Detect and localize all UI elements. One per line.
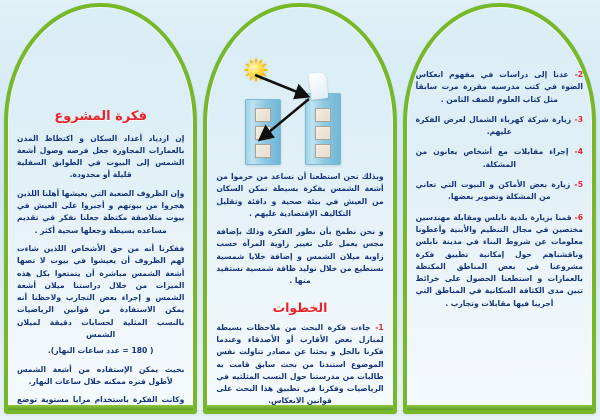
right-paragraph-2: وإن الظروف الصعبة التي يعيشها أهلنا اللذ…	[17, 188, 184, 237]
poster-root: فكرة المشروع إن ازدياد أعداد السكان و اك…	[0, 0, 600, 420]
panel-row: فكرة المشروع إن ازدياد أعداد السكان و اك…	[0, 0, 600, 420]
step-text: إجراء مقابلات مع أشخاص يعانون من المشكلة…	[416, 147, 569, 168]
list-item: 3- زيارة شركة كهرباء الشمال لعرض الفكرة …	[416, 114, 583, 139]
step-text: قمنا بزيارة بلدية نابلس ومقابلة مهندسين …	[416, 213, 583, 308]
steps-list-left: 2- عدنا إلى دراسات في مفهوم انعكاس الضوء…	[416, 69, 583, 318]
list-item: 5- زيارة بعض الأماكن و البيوت التي تعاني…	[416, 179, 583, 204]
panel-content-left: 2- عدنا إلى دراسات في مفهوم انعكاس الضوء…	[407, 7, 592, 410]
steps-list-middle: 1- جاءت فكرة البحث من ملاحظات بسيطة لمنا…	[216, 322, 383, 410]
panel-steps-and-diagram: وبذلك نحن استطعنا أن نساعد من حرموا من أ…	[203, 3, 396, 414]
step-text: جاءت فكرة البحث من ملاحظات بسيطة لمنازل …	[216, 323, 383, 406]
step-text: زيارة شركة كهرباء الشمال لعرض الفكرة علي…	[416, 115, 571, 136]
panel-steps-continued: 2- عدنا إلى دراسات في مفهوم انعكاس الضوء…	[403, 3, 596, 414]
step-text: عدنا إلى دراسات في مفهوم انعكاس الضوء في…	[416, 70, 583, 104]
middle-paragraph-2: و نحن نطمح بأن نطور الفكرة وذلك بإضافة م…	[216, 226, 383, 287]
step-number: 6-	[575, 213, 583, 222]
list-item: 2- عدنا إلى دراسات في مفهوم انعكاس الضوء…	[416, 69, 583, 106]
list-item: 6- قمنا بزيارة بلدية نابلس ومقابلة مهندس…	[416, 212, 583, 310]
panel-frame-right: فكرة المشروع إن ازدياد أعداد السكان و اك…	[4, 3, 197, 414]
right-paragraph-3: ففكرنا أنه من حق الأشخاص اللذين شاءت لهم…	[17, 243, 184, 341]
step-text: زيارة بعض الأماكن و البيوت التي تعاني من…	[416, 180, 571, 201]
light-ray-arrows	[216, 51, 383, 167]
reflected-ray-arrow	[261, 99, 309, 139]
list-item: 1- جاءت فكرة البحث من ملاحظات بسيطة لمنا…	[216, 322, 383, 408]
right-paragraph-5: وكانت الفكرة باستخدام مرايا مستوية توضع …	[17, 394, 184, 410]
panel-content-middle: وبذلك نحن استطعنا أن نساعد من حرموا من أ…	[207, 7, 392, 410]
step-number: 1-	[375, 323, 383, 332]
step-number: 5-	[575, 180, 583, 189]
right-paragraph-1: إن ازدياد أعداد السكان و اكتظاظ المدن با…	[17, 133, 184, 182]
step-number: 3-	[575, 115, 583, 124]
page-title: فكرة المشروع	[17, 109, 184, 125]
panel-project-idea: فكرة المشروع إن ازدياد أعداد السكان و اك…	[4, 3, 197, 414]
sun-mirror-buildings-diagram	[216, 51, 383, 167]
right-paragraph-4: بحيث يمكن الإستفاده من أشعة الشمس لأطول …	[17, 364, 184, 389]
panel-frame-left: 2- عدنا إلى دراسات في مفهوم انعكاس الضوء…	[403, 3, 596, 414]
incident-ray-arrow	[255, 75, 307, 96]
middle-paragraph-1: وبذلك نحن استطعنا أن نساعد من حرموا من أ…	[216, 171, 383, 220]
step-number: 4-	[575, 147, 583, 156]
daylight-hours-formula: ( 180 = عدد ساعات النهار).	[17, 345, 184, 357]
list-item: 4- إجراء مقابلات مع أشخاص يعانون من المش…	[416, 146, 583, 171]
right-top-spacer	[17, 17, 184, 69]
step-number: 2-	[575, 70, 583, 79]
left-top-spacer	[416, 17, 583, 69]
panel-content-right: فكرة المشروع إن ازدياد أعداد السكان و اك…	[8, 7, 193, 410]
panel-frame-middle: وبذلك نحن استطعنا أن نساعد من حرموا من أ…	[203, 3, 396, 414]
steps-heading: الخطوات	[216, 300, 383, 315]
